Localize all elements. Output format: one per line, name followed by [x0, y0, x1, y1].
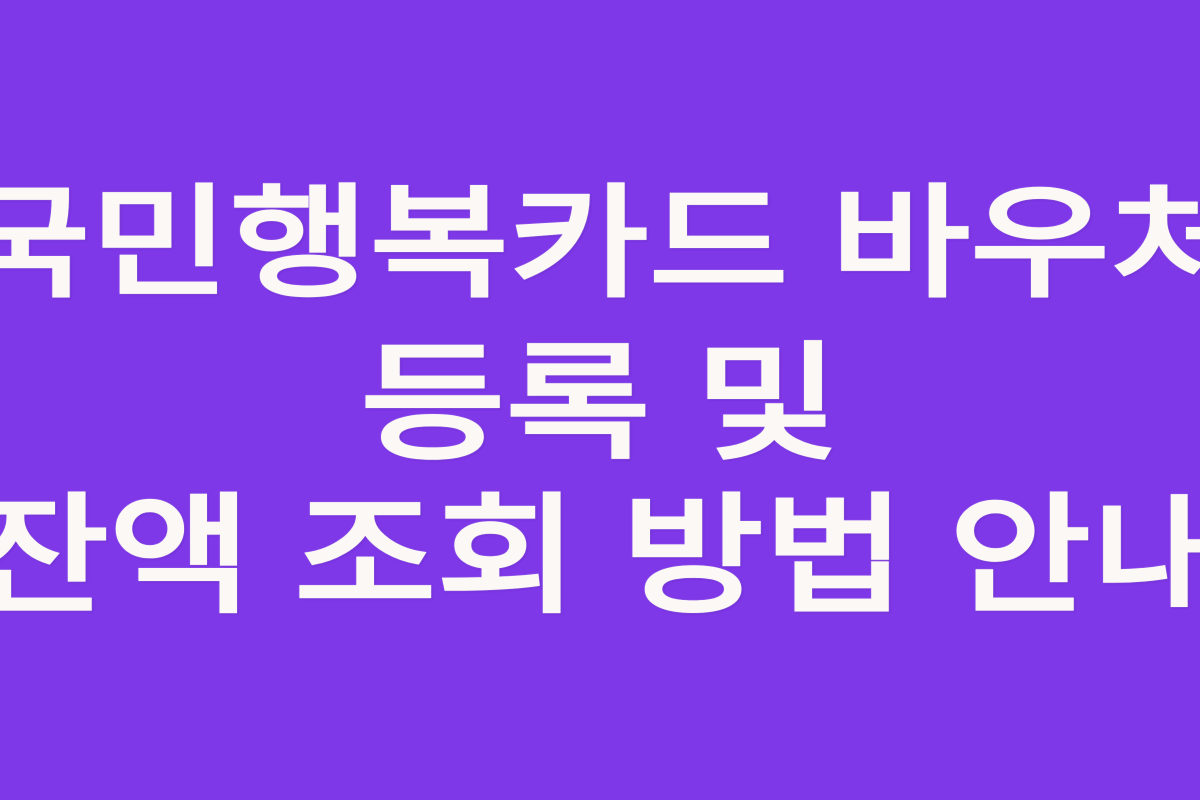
promo-banner: 국민행복카드 바우처 등록 및 잔액 조회 방법 안내 [0, 0, 1200, 800]
headline-line-2: 등록 및 [0, 341, 1200, 469]
banner-headline: 국민행복카드 바우처 등록 및 잔액 조회 방법 안내 [0, 179, 1200, 621]
headline-line-3: 잔액 조회 방법 안내 [0, 491, 1200, 621]
headline-line-1: 국민행복카드 바우처 [0, 179, 1200, 311]
